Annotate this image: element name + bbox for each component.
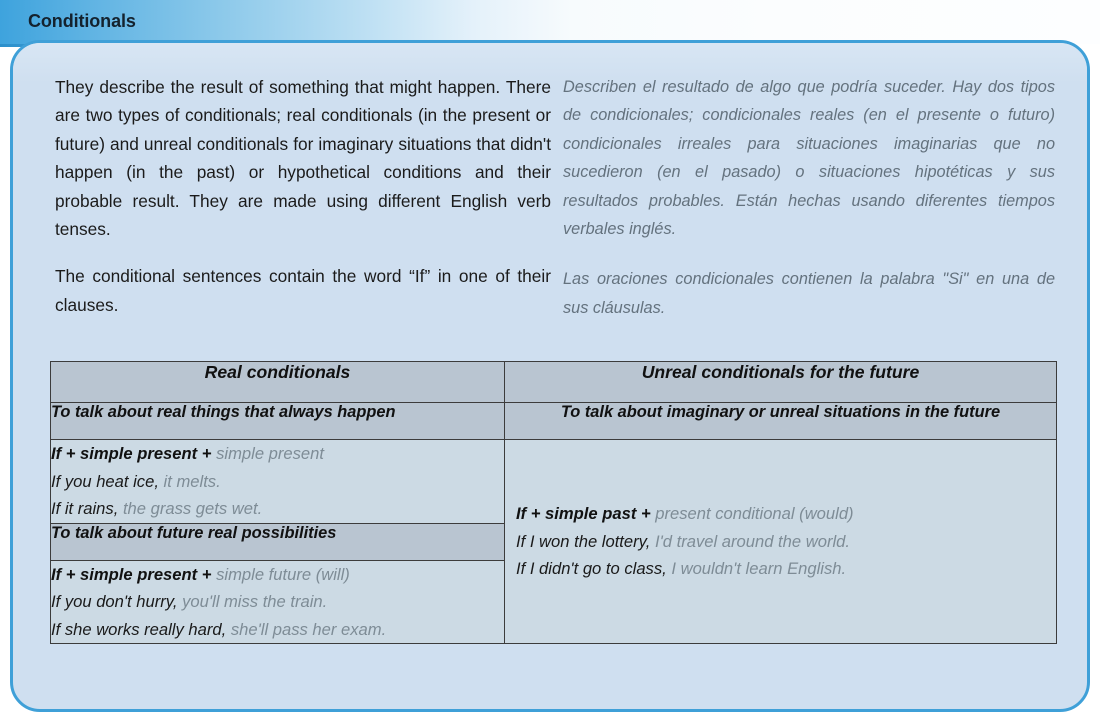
example-result: I wouldn't learn English. (667, 559, 846, 578)
formula-bold: If + simple present + (51, 444, 216, 463)
example-condition: If I won the lottery, (516, 532, 650, 551)
example-line: If it rains, the grass gets wet. (51, 495, 504, 523)
formula-bold: If + simple present + (51, 565, 216, 584)
table-subheader-imaginary-situations: To talk about imaginary or unreal situat… (505, 403, 1057, 440)
example-line: If you don't hurry, you'll miss the trai… (51, 588, 504, 616)
spanish-paragraph-1: Describen el resultado de algo que podrí… (563, 73, 1055, 243)
example-result: you'll miss the train. (177, 592, 327, 611)
example-condition: If you don't hurry, (51, 592, 177, 611)
slide-page: Conditionals They describe the result of… (0, 0, 1100, 722)
example-line: If I won the lottery, I'd travel around … (516, 528, 1045, 556)
content-panel: They describe the result of something th… (10, 40, 1090, 712)
example-line: If I didn't go to class, I wouldn't lear… (516, 555, 1045, 583)
spanish-column: Describen el resultado de algo que podrí… (563, 73, 1055, 344)
table-header-unreal-conditionals: Unreal conditionals for the future (505, 362, 1057, 403)
example-result: the grass gets wet. (118, 499, 262, 518)
formula-line: If + simple present + simple present (51, 440, 504, 468)
page-title: Conditionals (28, 11, 136, 32)
example-result: I'd travel around the world. (650, 532, 850, 551)
formula-gray: simple future (will) (216, 565, 350, 584)
example-condition: If she works really hard, (51, 620, 226, 639)
table-subheader-future-possibilities: To talk about future real possibilities (51, 523, 505, 560)
conditionals-table-wrapper: Real conditionals Unreal conditionals fo… (50, 361, 1056, 644)
conditionals-table: Real conditionals Unreal conditionals fo… (50, 361, 1057, 644)
formula-line: If + simple present + simple future (wil… (51, 561, 504, 589)
table-row-main-headers: Real conditionals Unreal conditionals fo… (51, 362, 1057, 403)
table-subheader-real-things: To talk about real things that always ha… (51, 403, 505, 440)
example-condition: If it rains, (51, 499, 118, 518)
english-paragraph-1: They describe the result of something th… (55, 73, 551, 243)
table-row-sub-headers: To talk about real things that always ha… (51, 403, 1057, 440)
table-header-real-conditionals: Real conditionals (51, 362, 505, 403)
formula-bold: If + simple past + (516, 504, 655, 523)
example-result: it melts. (159, 472, 221, 491)
example-line: If she works really hard, she'll pass he… (51, 616, 504, 644)
english-column: They describe the result of something th… (55, 73, 551, 338)
example-condition: If you heat ice, (51, 472, 159, 491)
example-result: she'll pass her exam. (226, 620, 386, 639)
spanish-paragraph-2: Las oraciones condicionales contienen la… (563, 265, 1055, 322)
table-row-present-present: If + simple present + simple present If … (51, 440, 1057, 524)
example-condition: If I didn't go to class, (516, 559, 667, 578)
table-cell-unreal-past-would: If + simple past + present conditional (… (505, 440, 1057, 644)
table-cell-real-present-present: If + simple present + simple present If … (51, 440, 505, 524)
formula-gray: present conditional (would) (655, 504, 853, 523)
english-paragraph-2: The conditional sentences contain the wo… (55, 262, 551, 319)
example-line: If you heat ice, it melts. (51, 468, 504, 496)
table-cell-real-present-future: If + simple present + simple future (wil… (51, 560, 505, 644)
formula-line: If + simple past + present conditional (… (516, 500, 1045, 528)
formula-gray: simple present (216, 444, 324, 463)
